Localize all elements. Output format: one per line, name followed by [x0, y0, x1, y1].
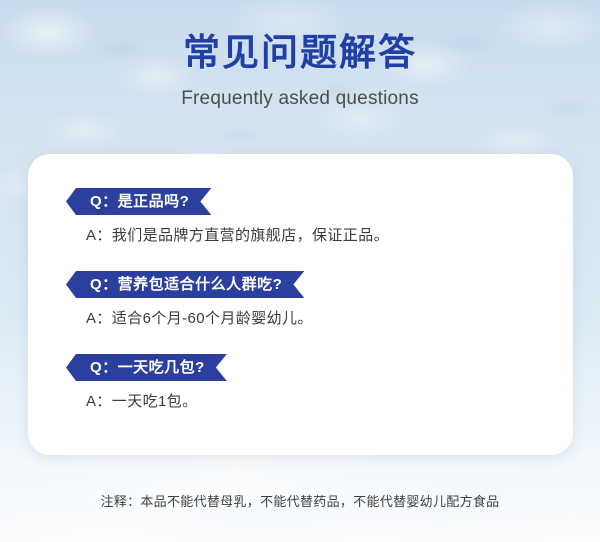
question-badge[interactable]: Q：营养包适合什么人群吃?	[66, 271, 304, 298]
question-row: Q：一天吃几包?	[28, 354, 573, 381]
answer-text: A：适合6个月-60个月龄婴幼儿。	[28, 307, 573, 328]
faq-item[interactable]: Q：一天吃几包? A：一天吃1包。	[28, 354, 573, 411]
footer-disclaimer: 注释：本品不能代替母乳，不能代替药品，不能代替婴幼儿配方食品	[0, 491, 600, 510]
question-badge[interactable]: Q：一天吃几包?	[66, 354, 227, 381]
answer-text: A：我们是品牌方直营的旗舰店，保证正品。	[28, 224, 573, 245]
page-header: 常见问题解答 Frequently asked questions	[0, 30, 600, 110]
question-badge[interactable]: Q：是正品吗?	[66, 188, 211, 215]
question-row: Q：是正品吗?	[28, 188, 573, 215]
page-root: 常见问题解答 Frequently asked questions Q：是正品吗…	[0, 0, 600, 542]
faq-list: Q：是正品吗? A：我们是品牌方直营的旗舰店，保证正品。 Q：营养包适合什么人群…	[28, 154, 573, 411]
question-row: Q：营养包适合什么人群吃?	[28, 271, 573, 298]
faq-card: Q：是正品吗? A：我们是品牌方直营的旗舰店，保证正品。 Q：营养包适合什么人群…	[28, 154, 573, 455]
answer-text: A：一天吃1包。	[28, 390, 573, 411]
page-subtitle: Frequently asked questions	[0, 88, 600, 110]
faq-item[interactable]: Q：营养包适合什么人群吃? A：适合6个月-60个月龄婴幼儿。	[28, 271, 573, 328]
page-title: 常见问题解答	[0, 30, 600, 76]
faq-item[interactable]: Q：是正品吗? A：我们是品牌方直营的旗舰店，保证正品。	[28, 188, 573, 245]
